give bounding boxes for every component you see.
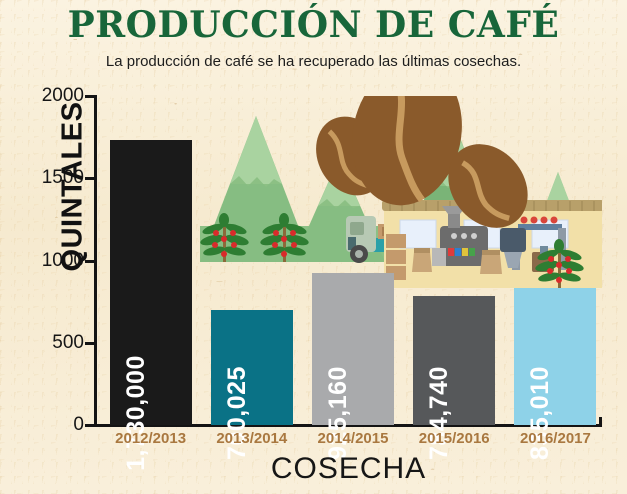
x-category-2013-2014: 2013/2014 [201,430,302,447]
y-axis-title: QUINTALES [57,72,90,302]
coffee-production-infographic: PRODUCCIÓN DE CAFÉ La producción de café… [0,0,627,494]
x-axis-title: COSECHA [96,452,601,486]
y-tick-500 [85,342,95,345]
y-tick-label-500: 500 [6,332,84,354]
page-title: PRODUCCIÓN DE CAFÉ [0,4,627,46]
bars-layer: 1,730,000700,025925,160784,740835,010 [96,96,602,425]
bar-2016-2017[interactable]: 835,010 [514,288,596,425]
y-tick-label-0: 0 [6,414,84,436]
bar-2015-2016[interactable]: 784,740 [413,296,495,425]
y-tick-0 [85,424,95,427]
bar-2013-2014[interactable]: 700,025 [211,310,293,425]
page-subtitle: La producción de café se ha recuperado l… [0,53,627,70]
x-category-2016-2017: 2016/2017 [505,430,606,447]
x-category-2012-2013: 2012/2013 [100,430,201,447]
bar-2014-2015[interactable]: 925,160 [312,273,394,425]
x-category-2014-2015: 2014/2015 [302,430,403,447]
bar-2012-2013[interactable]: 1,730,000 [110,140,192,425]
x-category-2015-2016: 2015/2016 [404,430,505,447]
